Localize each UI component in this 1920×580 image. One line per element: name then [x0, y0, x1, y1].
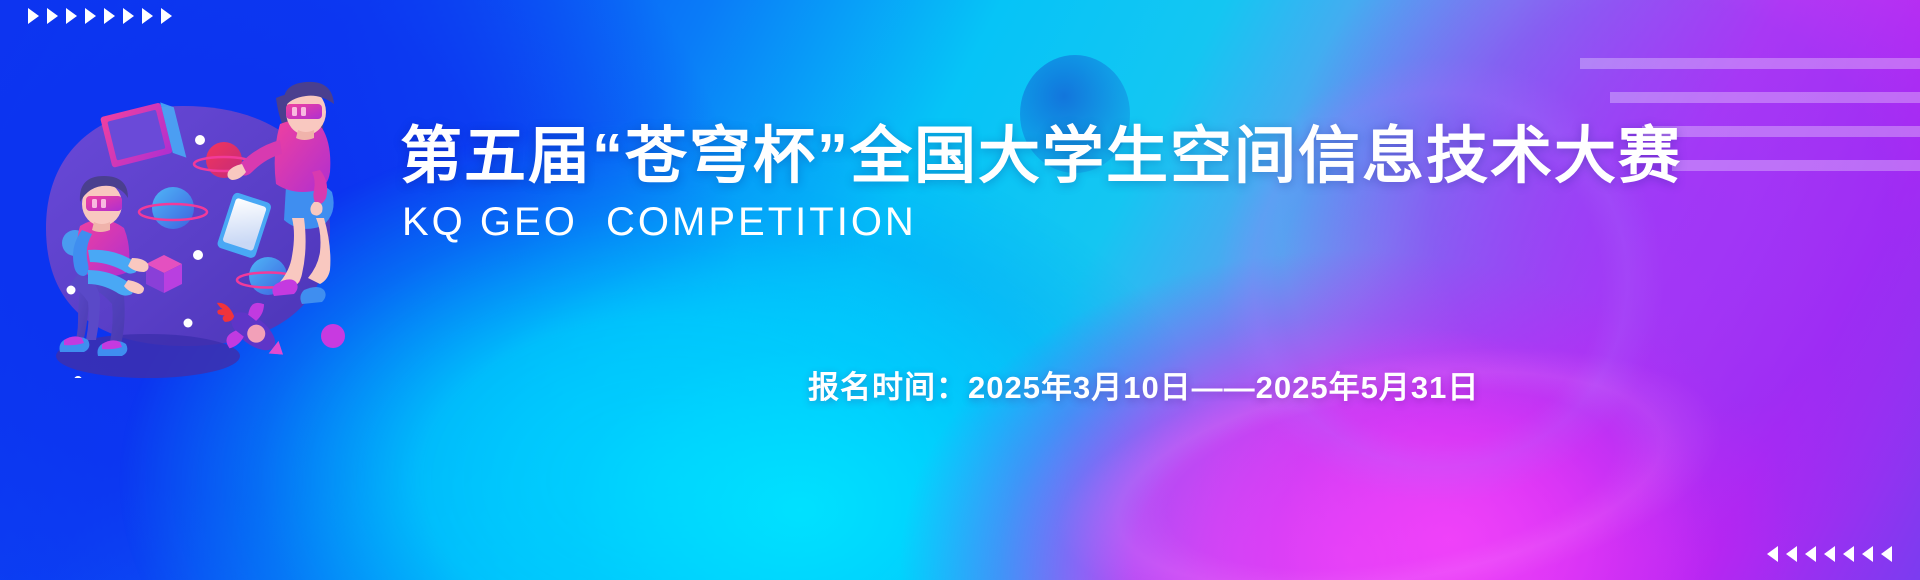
page-title: 第五届“苍穹杯”全国大学生空间信息技术大赛	[400, 122, 1682, 191]
arrow-right-icon	[123, 8, 134, 24]
arrow-row-top-left	[28, 8, 172, 24]
competition-banner: 第五届“苍穹杯”全国大学生空间信息技术大赛 KQ GEO COMPETITION…	[0, 0, 1920, 580]
arrow-right-icon	[161, 8, 172, 24]
vr-students-space-illustration	[28, 78, 358, 378]
arrow-left-icon	[1767, 546, 1778, 562]
arrow-right-icon	[142, 8, 153, 24]
arrow-left-icon	[1862, 546, 1873, 562]
planet-magenta	[321, 324, 345, 348]
arrow-right-icon	[28, 8, 39, 24]
arrow-left-icon	[1881, 546, 1892, 562]
star-dot	[195, 135, 205, 145]
arrow-row-bottom-right	[1767, 546, 1892, 562]
arrow-left-icon	[1786, 546, 1797, 562]
registration-period: 报名时间：2025年3月10日——2025年5月31日	[808, 362, 1479, 407]
arrow-right-icon	[85, 8, 96, 24]
page-subtitle: KQ GEO COMPETITION	[402, 200, 917, 245]
arrow-right-icon	[47, 8, 58, 24]
star-dot	[193, 250, 203, 260]
arrow-right-icon	[66, 8, 77, 24]
arrow-left-icon	[1805, 546, 1816, 562]
arrow-left-icon	[1843, 546, 1854, 562]
arrow-left-icon	[1824, 546, 1835, 562]
star-dot	[184, 319, 193, 328]
star-dot	[67, 286, 76, 295]
star-dot	[74, 376, 82, 378]
arrow-right-icon	[104, 8, 115, 24]
